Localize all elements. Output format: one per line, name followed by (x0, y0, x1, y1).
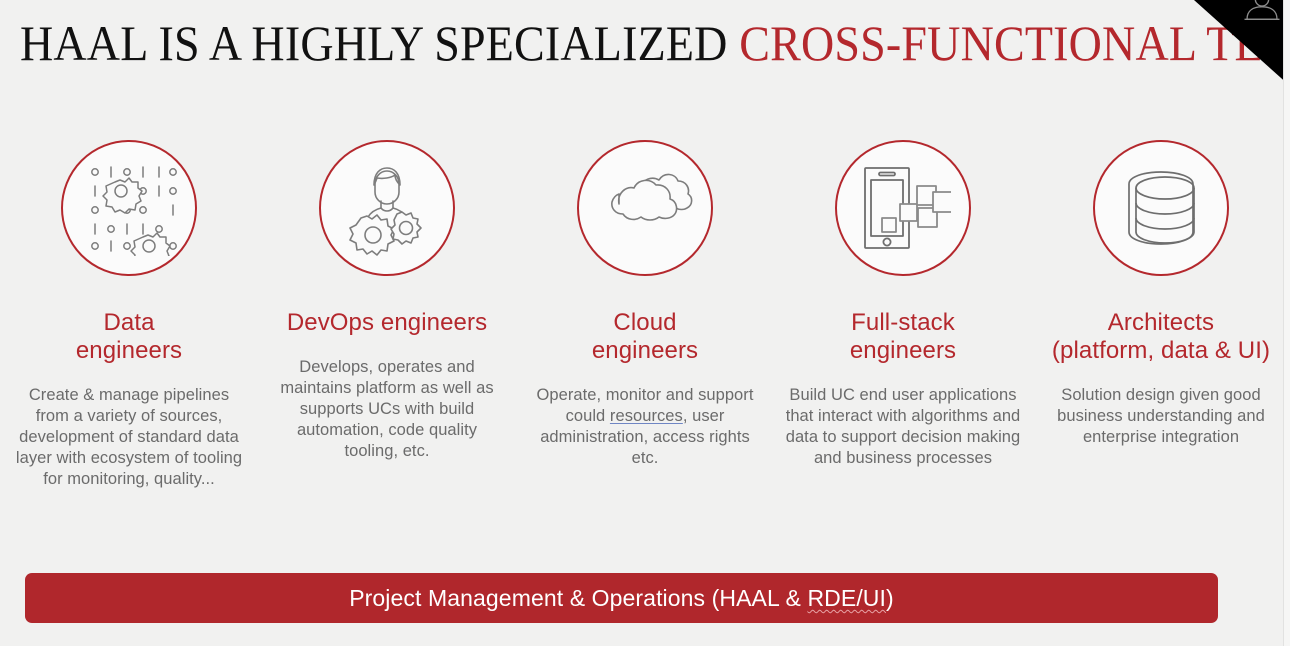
role-card-title: Cloud engineers (592, 309, 698, 365)
role-card-body: Develops, operates and maintains platfor… (270, 357, 505, 462)
role-card-title: Full-stack engineers (850, 309, 956, 365)
icon-circle-devops-engineers (319, 140, 455, 276)
role-card-title: Architects (platform, data & UI) (1052, 309, 1270, 365)
role-card-architects: Architects (platform, data & UI) Solutio… (1032, 140, 1290, 448)
page-title-accent: CROSS-FUNCTIONAL TEAM (739, 15, 1290, 71)
mobile-app-modules-icon (855, 160, 951, 256)
role-card-fullstack-engineers: Full-stack engineers Build UC end user a… (774, 140, 1032, 469)
role-card-body: Solution design given good business unde… (1044, 385, 1279, 448)
role-card-cloud-engineers: Cloud engineers Operate, monitor and sup… (516, 140, 774, 469)
page-title-plain: HAAL IS A HIGHLY SPECIALIZED (20, 15, 739, 71)
banner-label-before: Project Management & Operations (HAAL & (349, 585, 807, 611)
project-management-banner[interactable]: Project Management & Operations (HAAL & … (25, 573, 1218, 623)
role-card-title: Data engineers (76, 309, 182, 365)
role-card-title: DevOps engineers (287, 309, 487, 337)
page-title: HAAL IS A HIGHLY SPECIALIZED CROSS-FUNCT… (20, 14, 1290, 72)
title-bar: HAAL IS A HIGHLY SPECIALIZED CROSS-FUNCT… (0, 0, 1290, 92)
resources-link[interactable]: resources (610, 407, 683, 425)
database-icon (1115, 162, 1207, 254)
icon-circle-fullstack-engineers (835, 140, 971, 276)
clouds-icon (595, 160, 695, 256)
icon-circle-architects (1093, 140, 1229, 276)
slide-canvas: HAAL IS A HIGHLY SPECIALIZED CROSS-FUNCT… (0, 0, 1290, 646)
banner-label-after: ) (886, 585, 894, 611)
role-card-body: Create & manage pipelines from a variety… (12, 385, 247, 490)
role-card-devops-engineers: DevOps engineers Develops, operates and … (258, 140, 516, 462)
role-card-data-engineers: Data engineers Create & manage pipelines… (0, 140, 258, 490)
binary-data-gears-icon (81, 160, 177, 256)
banner-label-spellcheck: RDE/UI (807, 585, 886, 611)
icon-circle-data-engineers (61, 140, 197, 276)
icon-circle-cloud-engineers (577, 140, 713, 276)
role-card-body: Operate, monitor and support could resou… (528, 385, 763, 469)
banner-label: Project Management & Operations (HAAL & … (349, 585, 894, 611)
role-card-list: Data engineers Create & manage pipelines… (0, 140, 1290, 490)
person-gears-icon (339, 160, 435, 256)
right-edge-strip (1283, 0, 1290, 646)
role-card-body: Build UC end user applications that inte… (786, 385, 1021, 469)
